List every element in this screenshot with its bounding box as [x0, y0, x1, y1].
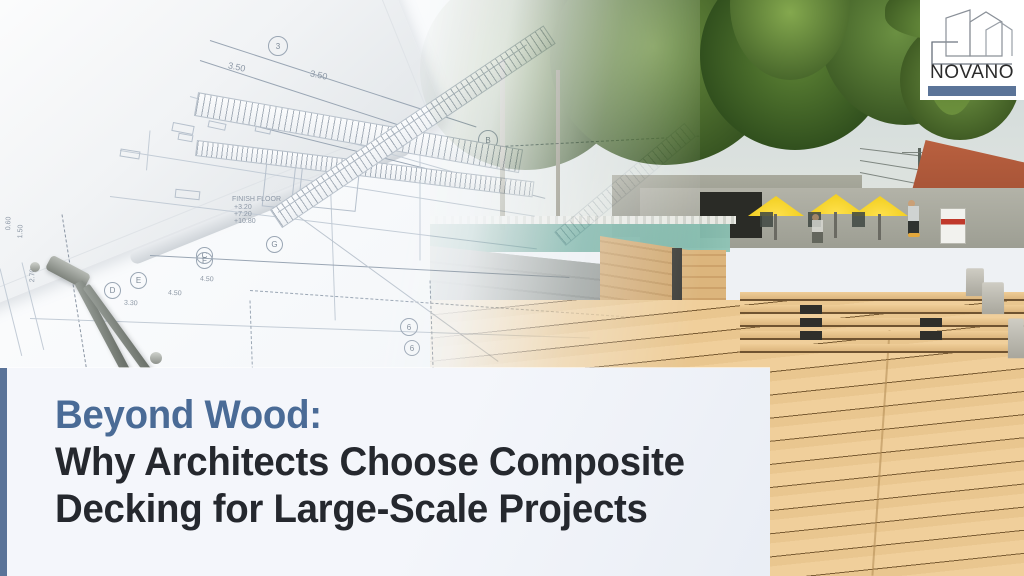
bollard: [982, 282, 1004, 314]
building-outlines-icon: [928, 8, 1016, 68]
grid-bubble-G: G: [266, 236, 283, 253]
grid-bubble: 6: [404, 340, 420, 356]
headline-panel: Beyond Wood: Why Architects Choose Compo…: [0, 368, 770, 576]
grid-bubble-3: 3: [268, 36, 288, 56]
panel-accent-bar: [0, 368, 7, 576]
dimension-text: 3.30: [124, 300, 138, 308]
grid-bubble-D: D: [104, 282, 121, 299]
grid-bubble-E: E: [130, 272, 147, 289]
note-text: +10.80: [234, 218, 256, 225]
bollard: [1008, 318, 1024, 358]
dimension-text: 4.50: [200, 276, 214, 284]
logo-accent-bar: [928, 86, 1016, 96]
headline-line-2: Why Architects Choose Composite: [55, 439, 717, 486]
dimension-text: 1.50: [17, 225, 24, 239]
headline-line-3: Decking for Large-Scale Projects: [55, 486, 717, 533]
dimension-text: 4.50: [168, 290, 182, 298]
notice-board: [940, 208, 966, 244]
compass-joint: [150, 352, 162, 364]
page-title: Beyond Wood: Why Architects Choose Compo…: [55, 392, 745, 533]
dimension-text: 0.60: [5, 217, 12, 231]
headline-accent-line: Beyond Wood:: [55, 392, 717, 439]
compass-knob: [30, 262, 40, 272]
note-text: FINISH FLOOR: [232, 196, 281, 203]
novano-logo[interactable]: NOVANO: [920, 0, 1024, 100]
note-text: +7.20: [234, 211, 252, 218]
hidden-line: [250, 290, 629, 318]
note-text: +3.20: [234, 204, 252, 211]
hero-banner: 3 B C D E F G 6 6 3.50 3.50 0.60 1.50 2.…: [0, 0, 1024, 576]
grid-bubble-F: F: [196, 252, 213, 269]
grid-bubble: 6: [400, 318, 418, 336]
lounge-chair: [760, 212, 773, 227]
logo-wordmark: NOVANO: [920, 62, 1024, 84]
triangle-edge: [296, 214, 499, 362]
lounge-chair: [852, 212, 865, 227]
